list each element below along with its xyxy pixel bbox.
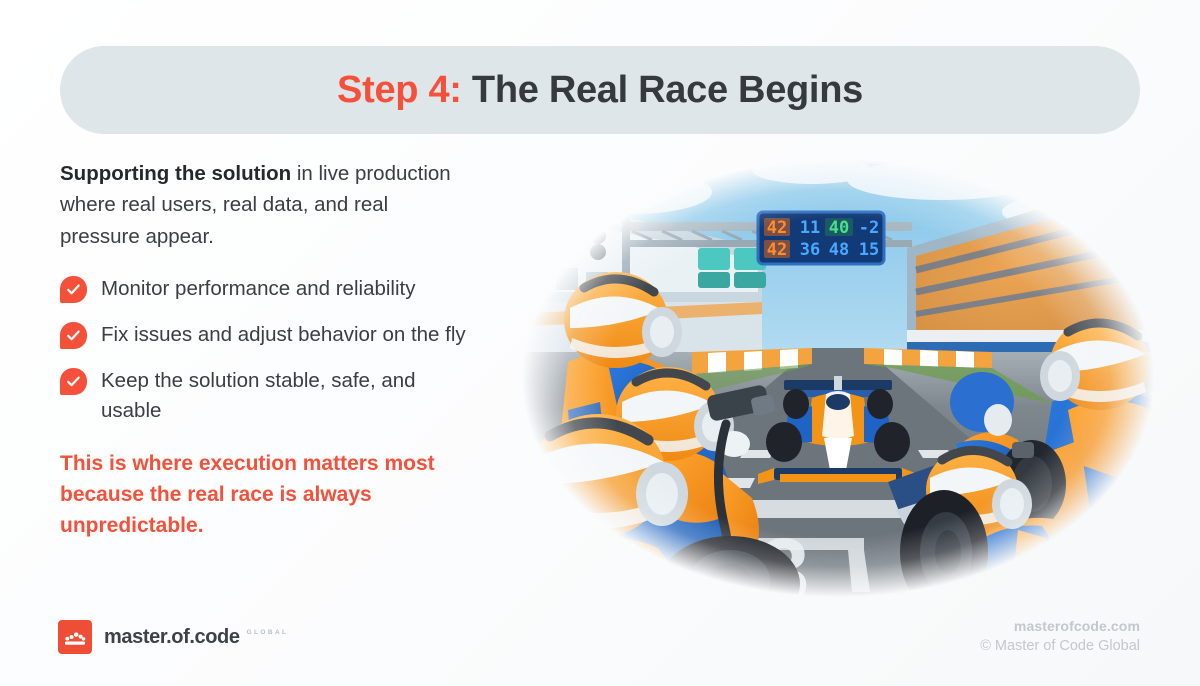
list-item: Fix issues and adjust behavior on the fl… [60, 320, 470, 351]
brand-logo: master.of.code GLOBAL [58, 620, 288, 654]
svg-text:48: 48 [829, 240, 849, 260]
svg-text:42: 42 [767, 218, 787, 238]
pit-crew-illustration: 42 11 40 -2 42 36 48 15 3 [512, 152, 1164, 604]
intro-bold: Supporting the solution [60, 162, 291, 185]
list-item: Keep the solution stable, safe, and usab… [60, 366, 470, 428]
svg-text:15: 15 [859, 240, 879, 260]
svg-text:-2: -2 [859, 218, 879, 238]
check-icon [60, 276, 87, 303]
title-rest: The Real Race Begins [472, 69, 863, 111]
svg-text:11: 11 [800, 218, 820, 238]
svg-text:40: 40 [829, 218, 849, 238]
svg-text:42: 42 [767, 240, 787, 260]
credit-copyright: © Master of Code Global [980, 638, 1140, 654]
left-content-column: Supporting the solution in live producti… [60, 158, 470, 542]
list-item: Monitor performance and reliability [60, 274, 470, 305]
logo-sublabel: GLOBAL [247, 629, 289, 636]
step-label: Step 4: [337, 69, 462, 111]
svg-text:36: 36 [800, 240, 820, 260]
credit-block: masterofcode.com © Master of Code Global [980, 618, 1140, 654]
list-item-label: Keep the solution stable, safe, and usab… [101, 366, 470, 428]
intro-paragraph: Supporting the solution in live producti… [60, 158, 470, 252]
title-main [462, 69, 472, 111]
credit-domain: masterofcode.com [980, 618, 1140, 634]
page-title: Step 4: The Real Race Begins [337, 69, 863, 112]
checklist: Monitor performance and reliability Fix … [60, 274, 470, 427]
list-item-label: Fix issues and adjust behavior on the fl… [101, 320, 466, 351]
check-icon [60, 322, 87, 349]
emphasis-paragraph: This is where execution matters most bec… [60, 449, 460, 542]
list-item-label: Monitor performance and reliability [101, 274, 415, 305]
logo-wordmark: master.of.code [104, 626, 240, 649]
logo-mark-icon [58, 620, 92, 654]
title-banner: Step 4: The Real Race Begins [60, 46, 1140, 134]
check-icon [60, 368, 87, 395]
